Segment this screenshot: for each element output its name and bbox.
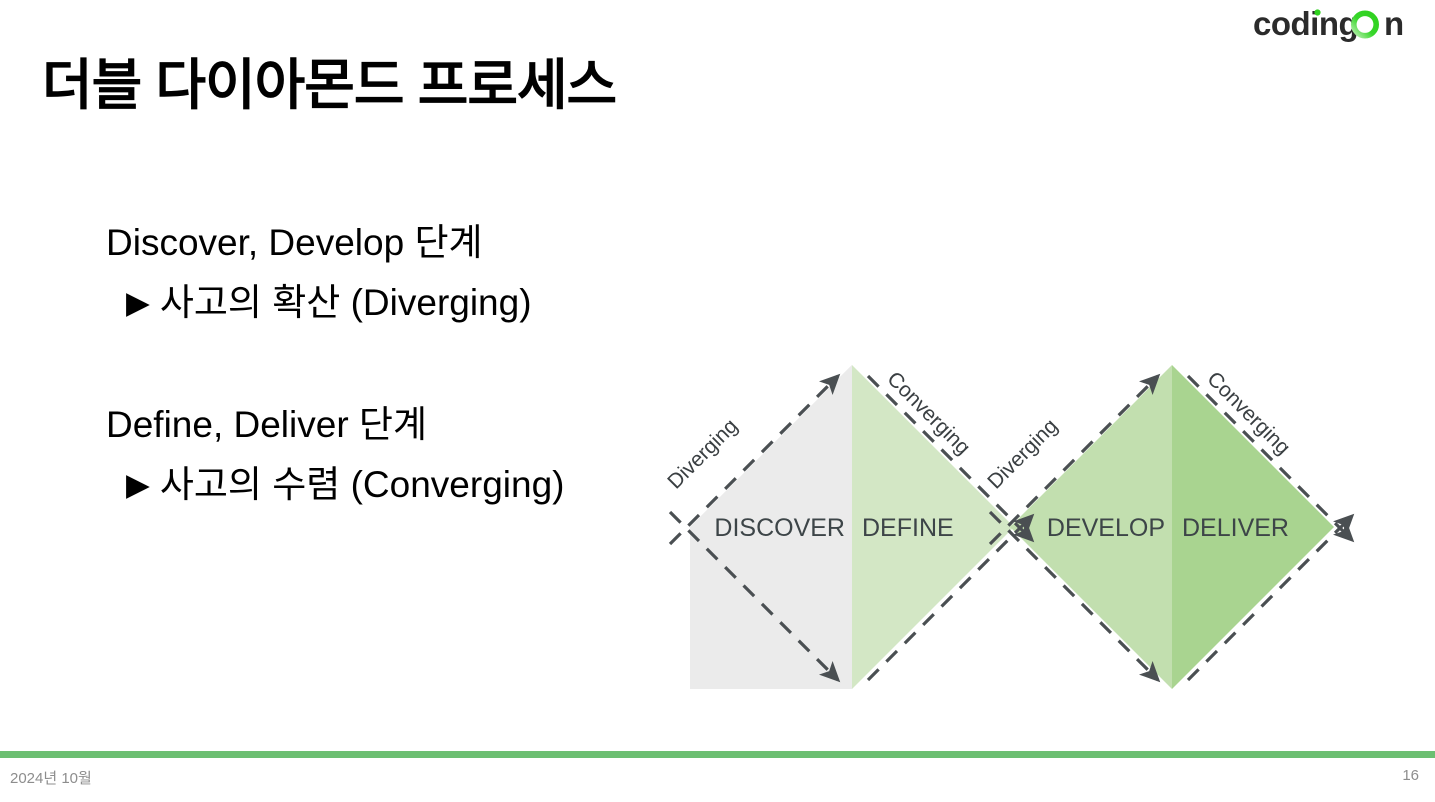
body-heading-1: Discover, Develop 단계 xyxy=(106,213,532,273)
body-bullet-text-2: 사고의 수렴 (Converging) xyxy=(160,464,565,505)
footer-divider-bar xyxy=(0,751,1435,758)
footer-date: 2024년 10월 xyxy=(10,767,92,788)
phase-label-define: DEFINE xyxy=(862,514,954,542)
phase-label-develop: DEVELOP xyxy=(1047,514,1165,542)
double-diamond-diagram: Diverging Converging Diverging Convergin… xyxy=(640,330,1370,720)
body-block-discover-develop: Discover, Develop 단계 ▶사고의 확산 (Diverging) xyxy=(106,213,532,333)
codingon-logo-mark: coding n xyxy=(1253,8,1421,42)
phase-label-deliver: DELIVER xyxy=(1182,514,1289,542)
body-block-define-deliver: Define, Deliver 단계 ▶사고의 수렴 (Converging) xyxy=(106,395,564,515)
logo-i-dot xyxy=(1314,9,1320,15)
svg-text:n: n xyxy=(1384,8,1404,42)
phase-label-discover: DISCOVER xyxy=(714,514,845,542)
triangle-right-icon: ▶ xyxy=(126,469,150,500)
footer-page-number: 16 xyxy=(1402,767,1419,784)
triangle-right-icon: ▶ xyxy=(126,287,150,318)
codingon-logo: coding n xyxy=(1253,8,1421,42)
body-bullet-2: ▶사고의 수렴 (Converging) xyxy=(106,455,564,515)
svg-text:coding: coding xyxy=(1253,8,1358,42)
body-bullet-1: ▶사고의 확산 (Diverging) xyxy=(106,273,532,333)
page-title: 더블 다이아몬드 프로세스 xyxy=(42,55,616,116)
body-bullet-text-1: 사고의 확산 (Diverging) xyxy=(160,282,532,323)
body-heading-2: Define, Deliver 단계 xyxy=(106,395,564,455)
